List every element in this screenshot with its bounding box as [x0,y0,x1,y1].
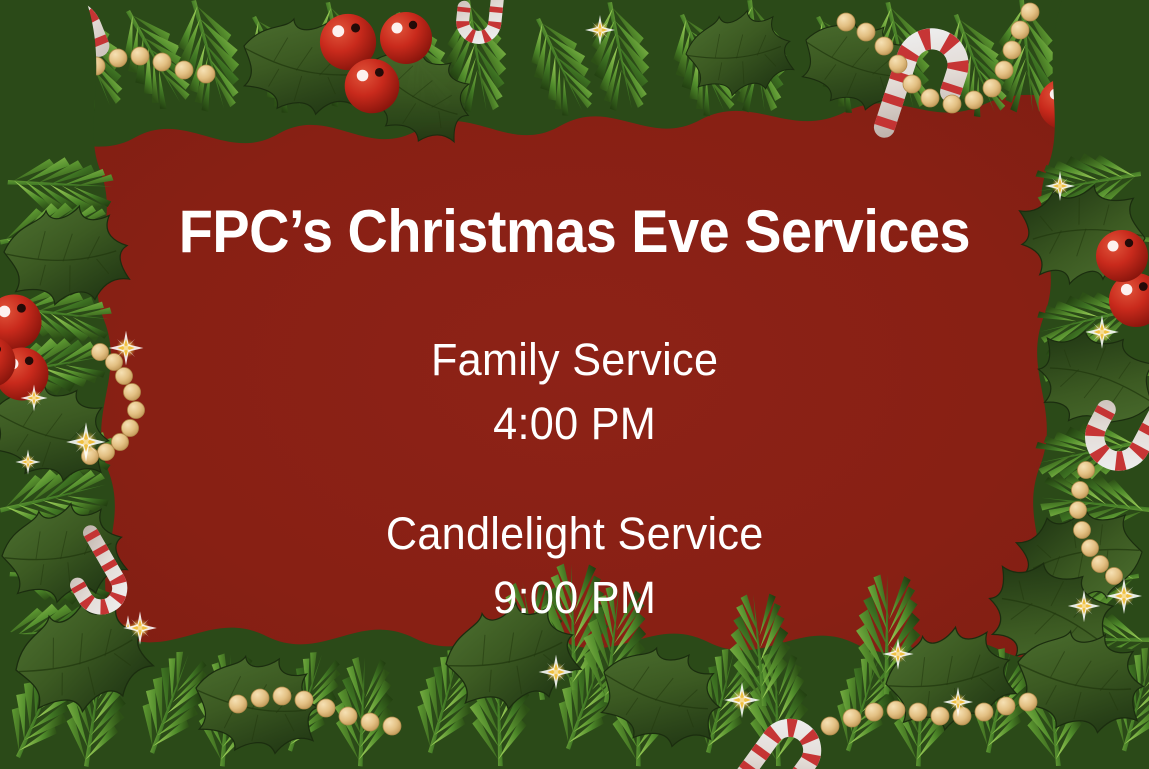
page-title: FPC’s Christmas Eve Services [179,202,970,262]
service-time: 9:00 PM [386,566,764,630]
poster-content: FPC’s Christmas Eve Services Family Serv… [0,0,1149,769]
christmas-service-poster: FPC’s Christmas Eve Services Family Serv… [0,0,1149,769]
service-time: 4:00 PM [431,392,718,456]
service-entry-candlelight: Candlelight Service 9:00 PM [378,502,771,630]
service-name: Family Service [431,328,718,392]
service-entry-family: Family Service 4:00 PM [425,328,724,456]
service-name: Candlelight Service [386,502,764,566]
